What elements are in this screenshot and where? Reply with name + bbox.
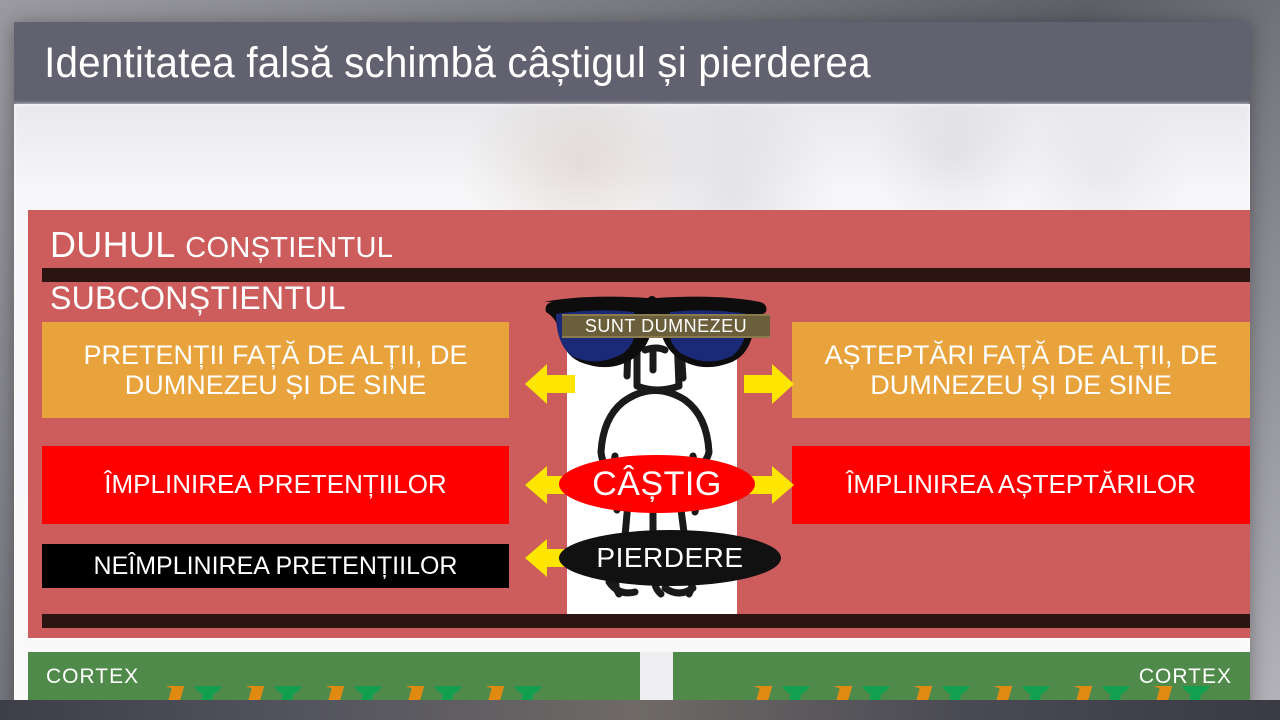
- header-spirit-secondary: CONȘTIENTUL: [185, 232, 393, 264]
- loss-ellipse[interactable]: PIERDERE: [559, 530, 781, 586]
- box-left-demands-unfulfilled[interactable]: NEÎMPLINIREA PRETENȚIILOR: [42, 544, 509, 588]
- header-subconscious: SUBCONȘTIENTUL: [50, 280, 346, 317]
- divider-bottom: [42, 614, 1250, 628]
- slide-canvas: Identitatea falsă schimbă câștigul și pi…: [14, 22, 1250, 720]
- arrow-right-top-icon: [742, 360, 796, 408]
- page-title: Identitatea falsă schimbă câștigul și pi…: [14, 39, 871, 88]
- box-right-expectations-fulfilled[interactable]: ÎMPLINIREA AȘTEPTĂRILOR: [792, 446, 1250, 524]
- header-spirit-primary: DUHUL: [50, 224, 176, 265]
- box-right-expectations[interactable]: AȘTEPTĂRI FAȚĂ DE ALȚII, DE DUMNEZEU ȘI …: [792, 322, 1250, 418]
- slide-title-bar: Identitatea falsă schimbă câștigul și pi…: [14, 22, 1250, 104]
- header-spirit: DUHUL CONȘTIENTUL: [50, 224, 393, 266]
- bottom-strip: [0, 700, 1280, 720]
- gain-ellipse[interactable]: CÂȘTIG: [559, 455, 755, 513]
- box-left-demands-fulfilled[interactable]: ÎMPLINIREA PRETENȚIILOR: [42, 446, 509, 524]
- glasses-banner: SUNT DUMNEZEU: [562, 314, 770, 338]
- box-left-demands[interactable]: PRETENȚII FAȚĂ DE ALȚII, DE DUMNEZEU ȘI …: [42, 322, 509, 418]
- diagram-panel: DUHUL CONȘTIENTUL SUBCONȘTIENTUL PRETENȚ…: [28, 210, 1250, 638]
- arrow-left-top-icon: [523, 360, 577, 408]
